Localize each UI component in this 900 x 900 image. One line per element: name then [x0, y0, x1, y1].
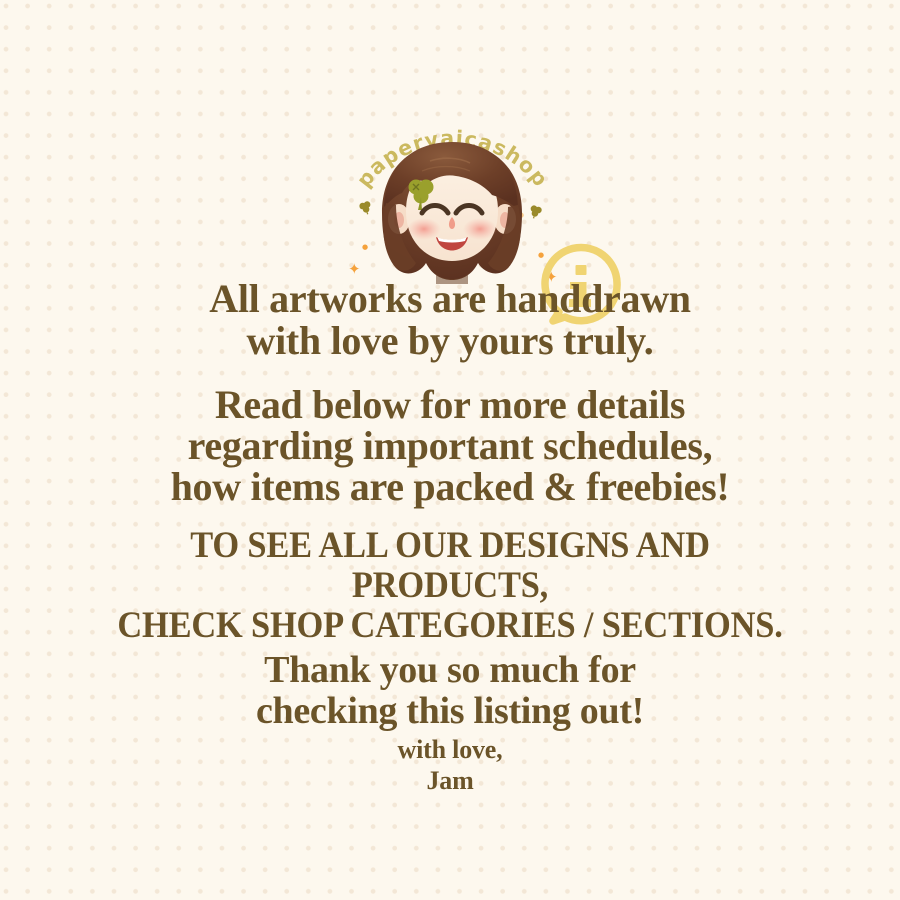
text-line: checking this listing out!	[0, 691, 900, 732]
paragraph-handdrawn: All artworks are handdrawn with love by …	[0, 278, 900, 362]
text-line: TO SEE ALL OUR DESIGNS AND	[32, 526, 869, 566]
signature: with love, Jam	[0, 734, 900, 796]
text-line: with love by yours truly.	[0, 320, 900, 362]
paragraph-categories: TO SEE ALL OUR DESIGNS AND PRODUCTS, CHE…	[0, 526, 900, 646]
listing-info-card: papervaicashop	[0, 0, 900, 900]
text-line: with love,	[0, 734, 900, 765]
text-line: CHECK SHOP CATEGORIES / SECTIONS.	[32, 606, 869, 646]
text-line: regarding important schedules,	[0, 425, 900, 466]
text-line: how items are packed & freebies!	[0, 466, 900, 507]
header-block: papervaicashop	[0, 112, 900, 284]
message-body: All artworks are handdrawn with love by …	[0, 278, 900, 796]
avatar	[366, 137, 538, 284]
shop-logo: papervaicashop	[340, 112, 565, 284]
paragraph-thank-you: Thank you so much for checking this list…	[0, 650, 900, 732]
text-line: Read below for more details	[0, 384, 900, 425]
text-line: Thank you so much for	[0, 650, 900, 691]
signature-name: Jam	[0, 765, 900, 796]
sparkle-icon: ✦	[348, 262, 361, 277]
text-line: All artworks are handdrawn	[0, 278, 900, 320]
paragraph-read-below: Read below for more details regarding im…	[0, 384, 900, 507]
text-line: PRODUCTS,	[32, 566, 869, 606]
